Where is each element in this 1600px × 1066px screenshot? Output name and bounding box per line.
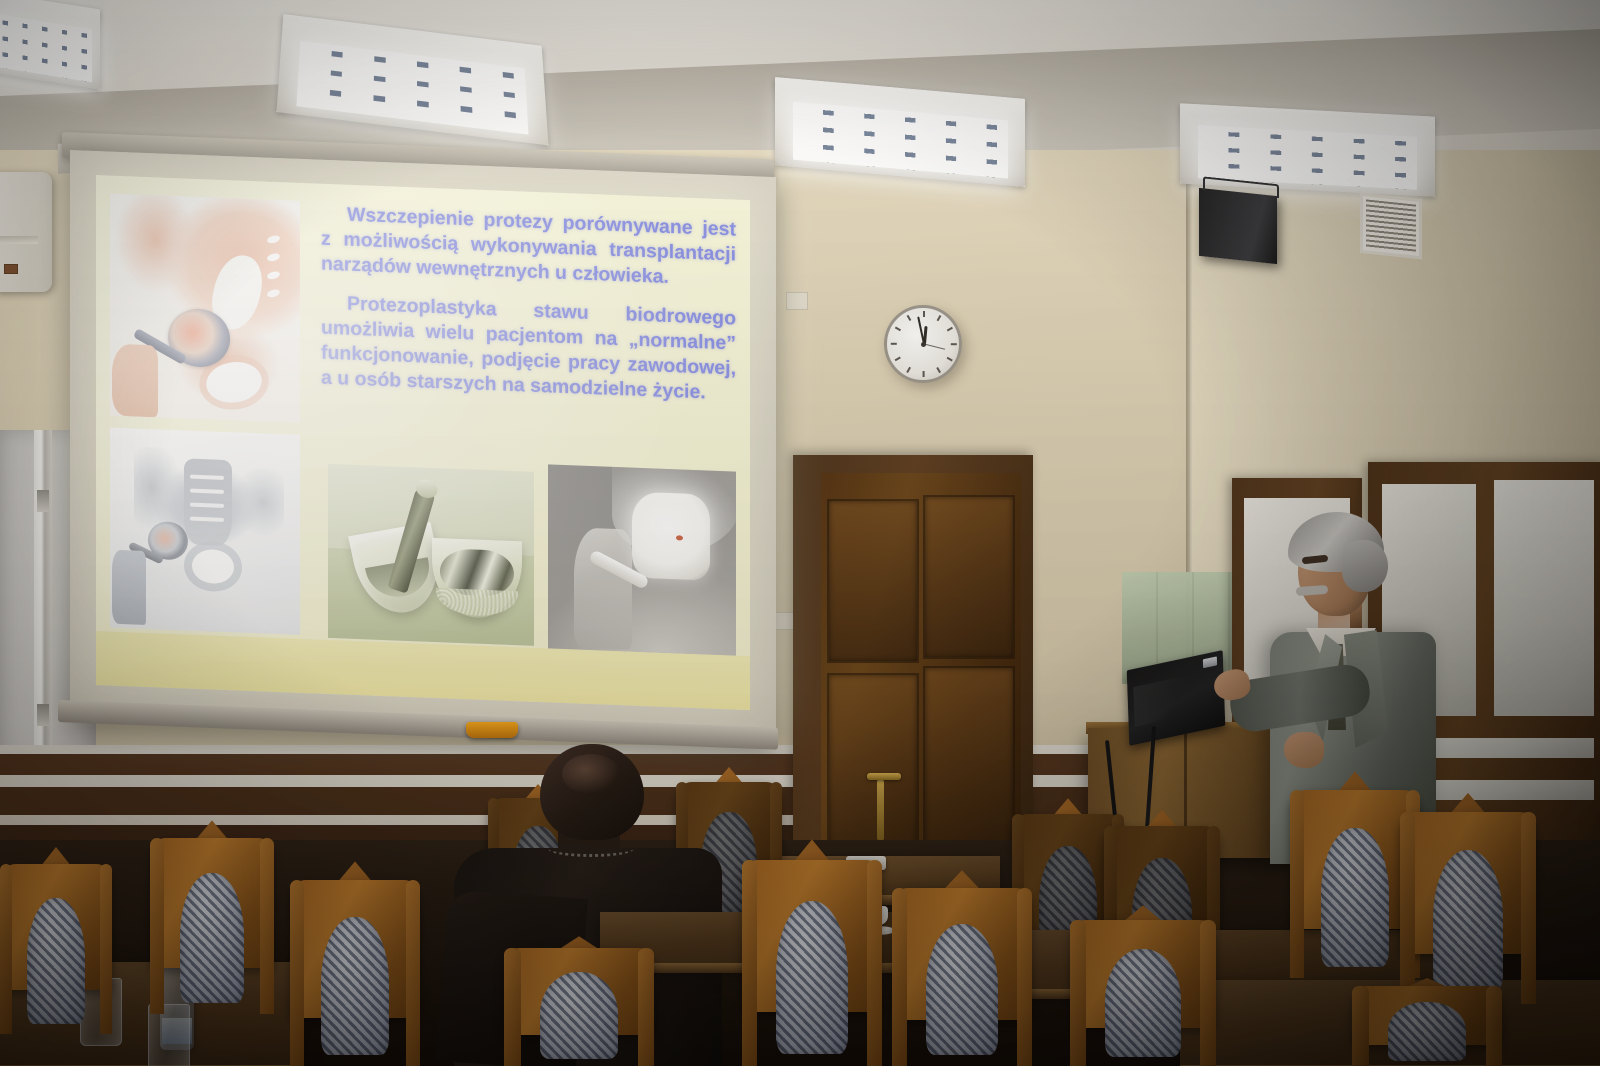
chair[interactable] — [290, 880, 420, 1066]
clock-tick — [923, 311, 925, 317]
clock-tick — [895, 357, 901, 361]
presenter-hand-on-podium — [1284, 732, 1324, 768]
wall-clock — [884, 305, 962, 383]
xray-femur — [574, 527, 632, 649]
orange-tray — [466, 722, 518, 738]
wall-panel-insert — [1494, 480, 1594, 716]
whiteboard-hinge-icon — [37, 704, 49, 726]
chair[interactable] — [504, 948, 654, 1066]
hip-xray — [548, 464, 736, 655]
ac-indicator-led — [4, 264, 18, 274]
door-escutcheon — [877, 779, 884, 841]
audience-necklace — [548, 840, 634, 857]
clock-tick — [937, 367, 941, 373]
door-panel — [925, 668, 1013, 851]
door-panel — [829, 501, 917, 661]
door-handle[interactable] — [867, 773, 901, 780]
pelvis-femur — [112, 550, 146, 625]
ceiling-light-1 — [0, 0, 100, 90]
clock-second-hand — [923, 343, 945, 349]
clock-tick — [895, 327, 901, 331]
clock-tick — [907, 367, 911, 373]
slide-paragraph-1: Wszczepienie protezy porównywane jest z … — [321, 202, 736, 293]
wooden-double-door[interactable] — [821, 473, 1021, 855]
air-conditioner-unit — [0, 172, 52, 292]
audience-hair-highlight — [562, 754, 620, 794]
clock-tick — [947, 357, 953, 361]
clock-tick — [951, 343, 957, 345]
anat-sacral-foramina — [264, 235, 286, 324]
door-panel — [925, 497, 1013, 657]
chair[interactable] — [742, 860, 882, 1066]
clock-tick — [923, 371, 925, 377]
stem-head-tip — [414, 477, 440, 501]
chair[interactable] — [0, 864, 112, 1034]
clock-tick — [907, 315, 911, 321]
pelvis-sacrum — [184, 458, 232, 546]
ventilation-grille — [1360, 193, 1422, 260]
whiteboard-hinge-icon — [37, 490, 49, 512]
anat-femur — [112, 344, 158, 418]
pelvis-model-grayscale — [110, 428, 300, 635]
xray-implant-head — [632, 492, 710, 581]
presenter-hair-back — [1342, 540, 1388, 592]
hip-anatomy-illustration — [110, 194, 300, 423]
vent-slats — [1366, 199, 1416, 252]
clock-tick — [891, 343, 897, 345]
projected-slide: Wszczepienie protezy porównywane jest z … — [96, 175, 750, 710]
pelvis-obturator-ring — [192, 549, 234, 585]
door-panel — [829, 675, 917, 851]
wall-outlet[interactable] — [786, 292, 808, 310]
chair[interactable] — [1352, 986, 1502, 1066]
laptop-screen-sheen — [1133, 672, 1204, 727]
projection-screen: Wszczepienie protezy porównywane jest z … — [70, 150, 776, 747]
clock-center-pin — [921, 342, 926, 347]
implant-components-photo — [328, 464, 534, 646]
laptop-badge-icon — [1203, 656, 1217, 668]
ac-vent — [0, 236, 38, 244]
chair[interactable] — [1070, 920, 1216, 1066]
clock-tick — [947, 327, 953, 331]
wall-speaker — [1199, 188, 1277, 264]
lecture-hall-photo: Wszczepienie protezy porównywane jest z … — [0, 0, 1600, 1066]
door-frame — [793, 455, 1033, 855]
chair[interactable] — [1400, 812, 1536, 1004]
chair[interactable] — [892, 888, 1032, 1066]
slide-body-text: Wszczepienie protezy porównywane jest z … — [321, 202, 736, 407]
chair[interactable] — [150, 838, 274, 1014]
anat-obturator-foramen — [202, 358, 265, 407]
clock-tick — [937, 315, 941, 321]
slide-paragraph-2: Protezoplastyka stawu biodrowego umożliw… — [321, 291, 736, 407]
